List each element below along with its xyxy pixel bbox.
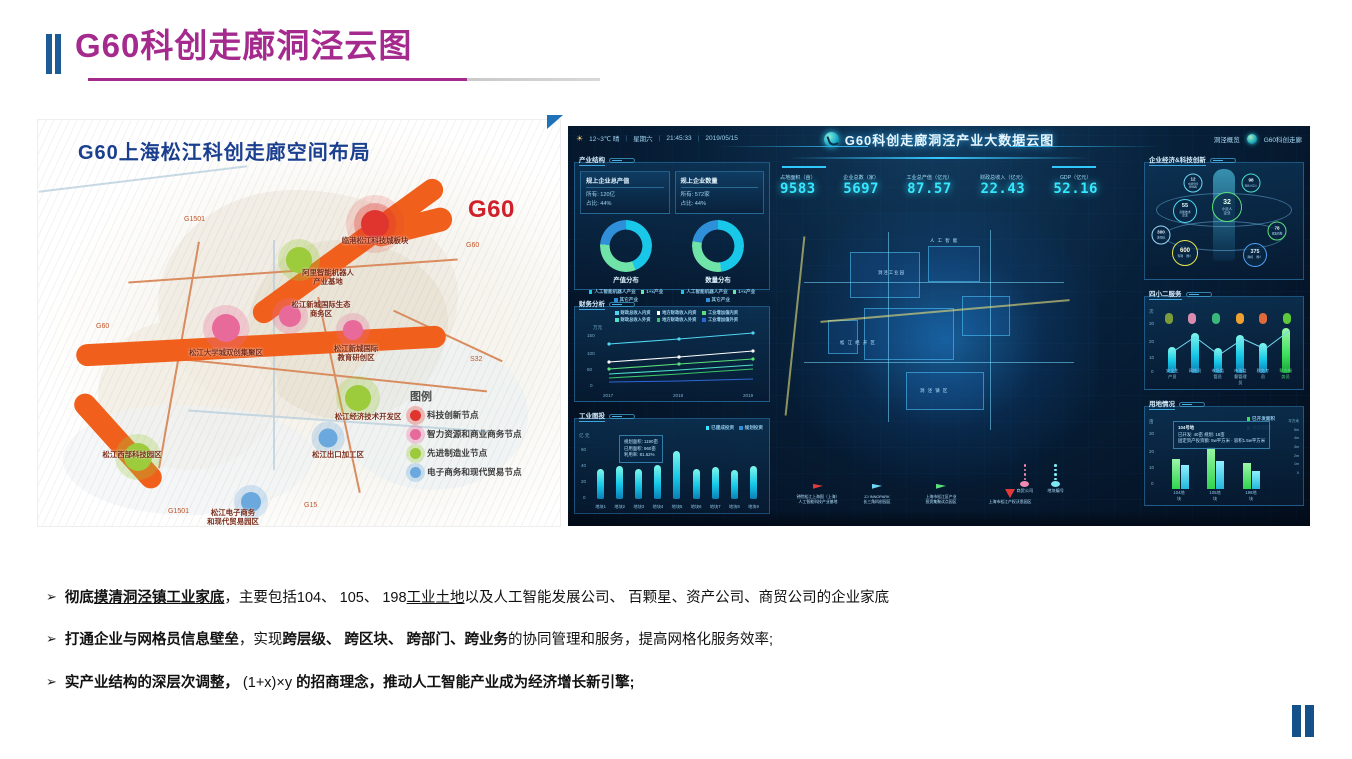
kpi-bracket-decoration [782,166,1096,171]
chart-tooltip: 规划面积: 1190亩 已用面积: 960亩 利用率: 81.62% [619,435,663,463]
axis-tick: 1m [1279,460,1299,469]
arrow-icon: ➢ [46,673,57,691]
bubble-caption: 著作权 [1157,236,1165,239]
bubble-patents[interactable]: 600 专利 （件） [1172,240,1198,266]
map-block [962,296,1010,336]
nav-item-g60[interactable]: G60科创走廊 [1264,134,1302,144]
map-node-tech [361,210,389,238]
right-axis-scale: 平方米 5m 4m 3m 2m 1m 0 [1279,417,1299,491]
tooltip-line: 规划面积: 1190亩 [624,439,658,446]
x-tick: 市场监管员 [1211,368,1225,386]
legend-company: 商贸公司 [1016,464,1033,494]
donut-caption: 数量分布 [692,275,744,284]
legend-entry: 已建成投资 [706,425,734,431]
legend-label: 科技创新节点 [427,409,479,421]
bullet-item: ➢ 彻底摸清洞泾镇工业家底，主要包括104、 105、 198工业土地以及人工智… [46,588,1286,608]
road-tag: S32 [470,356,482,363]
map-pin-icon [1005,489,1015,498]
x-tick: 2019 [743,393,753,398]
bar-series [591,441,763,499]
legend-entry: 人工智能机器人产业 [589,289,636,295]
slide-header: G60科创走廊洞泾云图 [46,28,412,74]
bubble-hi-tech[interactable]: 55 高新技术企业 [1173,199,1197,223]
bar-developed [1207,447,1215,489]
y-tick: 10 [1149,355,1154,360]
bubble-value: 78 [1274,227,1279,232]
y-tick: 0 [590,383,593,388]
role-icon-market [1212,313,1220,324]
legend-entry: 财政总收入外资 [615,317,651,323]
donut-output-chart [600,220,652,272]
bubble-value: 300 [1157,231,1165,236]
service-bar-chart: 次 30 20 10 0 [1145,297,1303,389]
panel-decoration [1210,158,1236,163]
legend-label: 先进制造业节点 [427,447,487,459]
bar-planned [1252,471,1260,489]
g60-logo-icon [824,132,839,147]
legend-parcel: 地块编号 [1047,464,1064,494]
bubble-caption: 小巨人企业 [1222,207,1232,215]
legend-entry: 财政总收入内资 [615,310,651,316]
bar-planned [1216,461,1224,489]
legend-entry: 地方财政收入外资 [657,317,697,323]
x-tick: 198地块 [1244,490,1258,502]
dot-stack-icon [1047,464,1064,480]
industrial-bar-chart: 已建成投资 规划投资 亿 元 60 40 20 0 [575,419,769,513]
tooltip-line: 固定资产投资额: 5w平方米 · 容积1.5w平方米 [1178,438,1265,445]
title-underline [88,78,600,81]
map-area-label: 洞泾工业园 [878,270,905,276]
panel-decoration [1186,292,1212,297]
page-title: G60科创走廊洞泾云图 [75,28,412,64]
kpi-value: 5697 [843,181,879,197]
legend-entry: 其它产业 [706,297,730,303]
x-tick: 帮办服务员 [1279,368,1293,386]
bubble-value: 600 [1180,248,1190,254]
donut-caption: 产值分布 [600,275,652,284]
legend-entry: 地方财政收入内资 [657,310,697,316]
bubble-value: 98 [1248,179,1253,184]
stat-card-line1: 所有: 572家 [681,191,759,200]
donut-charts: 产值分布 数量分布 [580,220,764,284]
kpi-label: 企业总数（家） [843,174,879,181]
city-glow: 人 工 智 能 松 江 经 开 区 洞 泾 镇 区 洞泾工业园 [780,212,1098,490]
axis-tick: 2m [1279,452,1299,461]
arrow-icon: ➢ [46,630,57,648]
legend-entry: 规划投资 [739,425,763,431]
map-bubble-legend: 商贸公司 地块编号 [1016,464,1064,494]
kpi-label: 工业总产值（亿元） [907,174,953,181]
bar-group [1172,459,1189,489]
y-tick: 0 [583,495,586,500]
bubble-value: 55 [1182,204,1188,210]
legend-dot-icon [410,448,421,459]
title-glow-line [789,157,1089,159]
bubble-rnd[interactable]: 78 研发机构 [1268,222,1287,241]
orbit-visualization: 32 小巨人企业 55 高新技术企业 600 专利 （件） 375 商标 （件）… [1145,163,1303,267]
y-tick: 30 [1149,431,1154,436]
map-highway [785,236,805,415]
dashboard-bottom-fade [568,510,1310,526]
bullet-item: ➢ 实产业结构的深层次调整， (1+x)×y 的招商理念，推动人工智能产业成为经… [46,673,1286,693]
legend-title: 图例 [410,388,522,404]
y-tick: 0 [1151,369,1154,374]
y-axis-unit: 亩 [1149,419,1154,425]
map-road [804,362,1074,363]
bubble-caption: 众创空间孵化器 [1188,183,1198,189]
line-series-svg [601,329,763,391]
kpi-value: 22.43 [980,181,1026,197]
road-tag: G1501 [184,216,205,223]
legend-label: 地块编号 [1047,488,1064,494]
kpi-area: 占地面积（亩） 9583 [780,174,816,197]
marker-label: 上海市松江产权沃思园区 [978,499,1042,504]
spatial-layout-map: G1501 G60 G60 S32 G15 G1501 G60上海松江科创走廊空… [38,120,560,526]
map-node-export [319,429,338,448]
bubble-incubator[interactable]: 12 众创空间孵化器 [1184,174,1203,193]
map-title: G60上海松江科创走廊空间布局 [78,136,371,165]
map-node-label: 临港松江科技城板块 [342,236,409,245]
legend-entry: 1+x产业 [641,289,663,295]
map-node-label: 松江大学城双创集聚区 [189,348,263,357]
map-area-label: 人 工 智 能 [930,238,958,244]
panel-decoration [609,158,635,163]
legend-dot-icon [410,410,421,421]
legend-dot-icon [410,429,421,440]
g60-label: G60 [468,196,515,224]
x-tick: 2017 [603,393,613,398]
land-tooltip: 104号地 已开发: 40亩 规划: 18亩 固定资产投资额: 5w平方米 · … [1173,421,1270,449]
arrow-icon: ➢ [46,588,57,606]
bar [750,466,757,499]
center-city-map: 占地面积（亩） 9583 企业总数（家） 5697 工业总产值（亿元） 87.5… [774,160,1104,520]
marker-label: 上海市松江区产业投资集聚试点园区 [910,494,972,504]
triangle-accent-icon [547,115,563,129]
kpi-value: 9583 [780,181,816,197]
x-tick: 税务专员 [1256,368,1270,386]
map-block [828,320,858,354]
road-tag: G1501 [168,508,189,515]
map-node-label: 阿里智能机器人产业基地 [302,268,354,287]
legend-item: 科技创新节点 [410,409,522,421]
header-wing-left [718,146,868,147]
bar [635,469,642,499]
legend-label: 电子商务和现代贸易节点 [427,466,522,478]
bar-chart-legend: 已建成投资 规划投资 [706,425,763,431]
x-tick: 105地块 [1208,490,1222,502]
line-chart-legend: 财政总收入内资 地方财政收入内资 工业增加值内资 财政总收入外资 地方财政收入外… [615,310,755,323]
bullet-item: ➢ 打通企业与网格员信息壁垒，实现跨层级、 跨区块、 跨部门、跨业务的协同管理和… [46,630,1286,650]
map-legend: 图例 科技创新节点 智力资源和商业商务节点 先进制造业节点 电子商务和现代贸易节… [410,388,522,485]
donut-count-chart [692,220,744,272]
kpi-label: 财政总收入（亿元） [980,174,1026,181]
kpi-fiscal-revenue: 财政总收入（亿元） 22.43 [980,174,1026,197]
kpi-value: 87.57 [907,181,953,197]
kpi-label: 占地面积（亩） [780,174,816,181]
financial-analysis-panel: 财务分析 财政总收入内资 地方财政收入内资 工业增加值内资 财政总收入外资 地方… [574,306,770,402]
bar [654,465,661,499]
stat-card-line1: 所有: 120亿 [586,191,664,200]
donut-legend-right: 人工智能机器人产业 1+x产业 其它产业 [674,289,762,303]
innovation-panel: 企业经济&科技创新 32 小巨人企业 55 高新技术企业 600 专利 （件） [1144,162,1304,280]
legend-entry: 人工智能机器人产业 [681,289,728,295]
legend-item: 先进制造业节点 [410,447,522,459]
bar-planned [1181,465,1189,489]
bar [673,451,680,499]
header-wing-right [1010,146,1160,147]
legend-item: 电子商务和现代贸易节点 [410,466,522,478]
legend-label: 智力资源和商业商务节点 [427,428,522,440]
marker-label: 钟院松江上海国（上海）人工智能科技产业基地 [788,494,848,504]
map-node-label: 松江新城国际生态商务区 [291,300,350,319]
panel-decoration [1179,402,1205,407]
land-use-panel: 用地情况 亩 30 20 10 0 已开发面积 规划面积 [1144,406,1304,506]
road-tag: G60 [96,323,109,330]
industry-structure-panel: 产业结构 规上企业总产值 所有: 120亿 占比: 44% 规上企业数量 所有:… [574,162,770,290]
y-tick: 50 [587,367,592,372]
bubble-value: 12 [1190,177,1195,182]
bubble-caption: 研发机构 [1272,232,1282,235]
map-node-education [343,320,363,340]
map-node-label: 松江电子商务和现代贸易园区 [207,508,259,526]
road-tag: G15 [304,502,317,509]
bar-x-labels: 安全生产员 网格员 市场监管员 市场监督管理员 税务专员 帮办服务员 [1161,368,1297,386]
road-tag: G60 [466,242,479,249]
bar-x-labels: 104地块 105地块 198地块 [1161,490,1269,502]
role-icon-assist [1283,313,1291,324]
legend-dot-icon [410,467,421,478]
map-marker-innopark[interactable]: ZJ INNOPARK长三角科创园区 [848,484,906,504]
axis-unit: 平方米 [1279,417,1299,426]
green-flag-icon [936,484,946,493]
dashboard-header: ☀ 12~3℃ 晴 | 星期六 | 21:45:33 | 2019/05/15 … [568,126,1310,156]
y-tick: 20 [1149,449,1154,454]
bubble-trademarks[interactable]: 375 商标 （件） [1243,243,1267,267]
panel-header: 产业结构 [579,154,635,166]
globe-icon [1247,134,1257,144]
bubble-value: 32 [1223,199,1231,206]
map-area-label: 松 江 经 开 区 [840,340,876,346]
bar-developed [1172,459,1180,489]
kpi-enterprises: 企业总数（家） 5697 [843,174,879,197]
bar-group [1243,463,1260,489]
bubble-icon [1051,481,1060,487]
tooltip-title: 104号地 [1178,425,1265,432]
bar [693,469,700,499]
panel-decoration [609,302,635,307]
x-tick: 网格员 [1188,368,1202,386]
axis-tick: 3m [1279,443,1299,452]
dashboard-nav: 洞泾概览 G60科创走廊 [1214,134,1302,144]
service-role-icons [1157,313,1299,324]
legend-entry: 1+x产业 [733,289,755,295]
map-marker-investment-park[interactable]: 上海市松江区产业投资集聚试点园区 [910,484,972,504]
legend-item: 智力资源和商业商务节点 [410,428,522,440]
map-area-label: 洞 泾 镇 区 [920,388,948,394]
kpi-label: GDP（亿元） [1053,174,1098,181]
bar-developed [1243,463,1251,489]
y-tick: 40 [581,463,586,468]
red-flag-icon [813,484,823,493]
marker-label: ZJ INNOPARK长三角科创园区 [848,494,906,504]
kpi-value: 52.16 [1053,181,1098,197]
donut-count-cell: 数量分布 [692,220,744,284]
map-block [928,246,980,282]
y-tick: 100 [587,351,595,356]
nav-item-overview[interactable]: 洞泾概览 [1214,134,1240,144]
kpi-industrial-output: 工业总产值（亿元） 87.57 [907,174,953,197]
y-tick: 0 [1151,481,1154,486]
bullet-text: 彻底摸清洞泾镇工业家底，主要包括104、 105、 198工业土地以及人工智能发… [65,588,889,608]
legend-entry: 工业增加值外资 [702,317,738,323]
x-tick: 104地块 [1172,490,1186,502]
stat-card-title: 规上企业总产值 [586,176,664,188]
stat-card-output: 规上企业总产值 所有: 120亿 占比: 44% [580,171,670,214]
map-road [888,232,889,422]
stat-card-title: 规上企业数量 [681,176,759,188]
panel-decoration [609,414,635,419]
role-icon-tax [1259,313,1267,324]
service-panel: 四小二服务 次 30 20 10 0 [1144,296,1304,390]
map-marker-ai-base[interactable]: 钟院松江上海国（上海）人工智能科技产业基地 [788,484,848,504]
bar [712,467,719,499]
bullet-text: 打通企业与网格员信息壁垒，实现跨层级、 跨区块、 跨部门、跨业务的协同管理和服务… [65,630,773,650]
stat-card-line2: 占比: 44% [681,200,759,209]
bullet-list: ➢ 彻底摸清洞泾镇工业家底，主要包括104、 105、 198工业土地以及人工智… [46,588,1286,715]
x-tick: 2018 [673,393,683,398]
map-node-label: 松江西部科技园区 [102,450,161,459]
legend-label: 商贸公司 [1016,488,1033,494]
corner-decoration-icon [1292,705,1314,737]
bubble-caption: 专利 （件） [1177,255,1192,258]
map-node-label: 松江出口加工区 [312,450,364,459]
dashboard-title-group: G60科创走廊洞泾产业大数据云图 [568,130,1310,149]
y-tick: 20 [1149,339,1154,344]
bar [731,470,738,499]
role-icon-safety [1165,313,1173,324]
kpi-gdp: GDP（亿元） 52.16 [1053,174,1098,197]
x-tick: 安全生产员 [1165,368,1179,386]
map-node-university [212,314,240,342]
map-node-econ-dev [345,385,371,411]
bubble-icon [1020,481,1029,487]
land-bar-chart: 亩 30 20 10 0 已开发面积 规划面积 [1145,407,1303,505]
industrial-investment-panel: 工业图投 已建成投资 规划投资 亿 元 60 40 20 0 [574,418,770,514]
bubble-caption: 高新技术企业 [1179,211,1191,218]
bar [616,466,623,499]
bubble-caption: 商标 （件） [1247,256,1262,259]
map-node-label: 松江新城国际教育研创区 [334,344,378,363]
dashboard-right-column: 企业经济&科技创新 32 小巨人企业 55 高新技术企业 600 专利 （件） [1144,162,1304,506]
dashboard-left-column: 产业结构 规上企业总产值 所有: 120亿 占比: 44% 规上企业数量 所有:… [574,162,770,514]
bar-group [1207,447,1224,489]
bigdata-dashboard-screenshot: ☀ 12~3℃ 晴 | 星期六 | 21:45:33 | 2019/05/15 … [568,126,1310,526]
y-tick: 10 [1149,465,1154,470]
tooltip-line: 利用率: 81.62% [624,452,658,459]
axis-tick: 4m [1279,434,1299,443]
bubble-copyright[interactable]: 300 著作权 [1152,226,1171,245]
x-tick: 市场监督管理员 [1233,368,1247,386]
y-axis-unit: 次 [1149,309,1154,315]
panel-title: 产业结构 [579,154,605,166]
bar [597,469,604,499]
kpi-row: 占地面积（亩） 9583 企业总数（家） 5697 工业总产值（亿元） 87.5… [774,174,1104,197]
legend-entry: 工业增加值内资 [702,310,738,316]
role-icon-supervision [1236,313,1244,324]
title-bar-icon [46,34,61,74]
finance-line-chart: 财政总收入内资 地方财政收入内资 工业增加值内资 财政总收入外资 地方财政收入外… [575,307,769,401]
bubble-little-giant[interactable]: 32 小巨人企业 [1212,192,1242,222]
map-node-label: 松江经济技术开发区 [335,412,402,421]
axis-tick: 5m [1279,426,1299,435]
axis-tick: 0 [1279,469,1299,478]
y-tick: 20 [581,479,586,484]
map-road [804,282,1064,283]
dot-stack-icon [1016,464,1033,480]
stat-card-line2: 占比: 44% [586,200,664,209]
blue-flag-icon [872,484,882,493]
y-tick: 60 [581,447,586,452]
bubble-sci-giant[interactable]: 98 科技小巨人 [1242,174,1261,193]
stat-card-count: 规上企业数量 所有: 572家 占比: 44% [675,171,765,214]
map-road [990,230,991,430]
bullet-text: 实产业结构的深层次调整， (1+x)×y 的招商理念，推动人工智能产业成为经济增… [65,673,635,693]
bubble-caption: 科技小巨人 [1245,184,1258,187]
y-axis-unit: 亿 元 [579,433,589,439]
role-icon-grid [1188,313,1196,324]
y-tick: 30 [1149,321,1154,326]
y-tick: 150 [587,333,595,338]
donut-output-cell: 产值分布 [600,220,652,284]
